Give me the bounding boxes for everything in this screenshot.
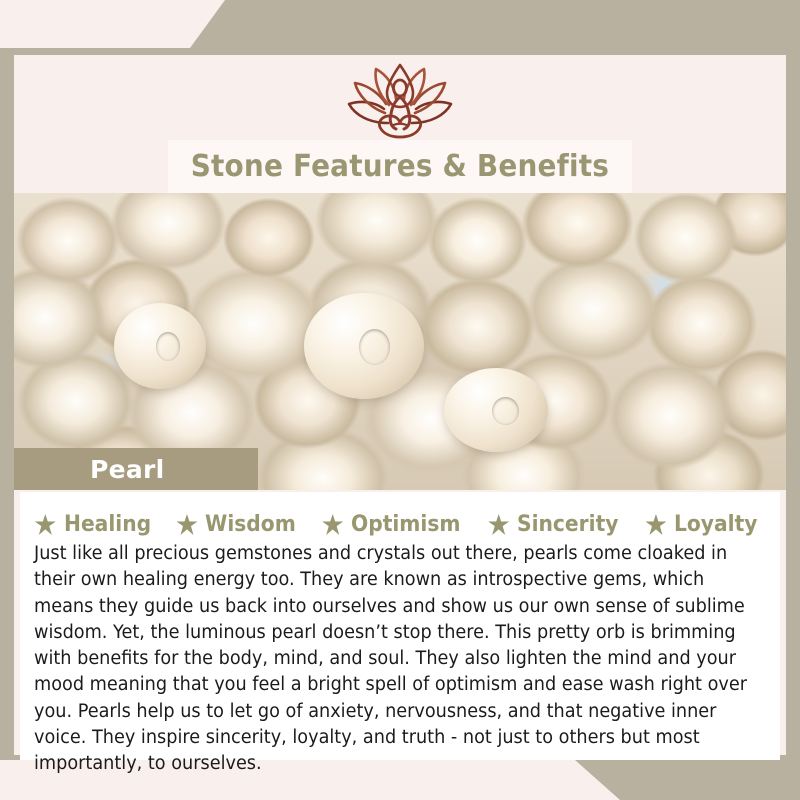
benefit-label: Optimism [351, 512, 460, 537]
star-icon [35, 514, 56, 535]
star-icon [645, 514, 666, 535]
benefit-item-sincerity: Sincerity [488, 512, 627, 537]
title-plaque: Stone Features & Benefits [168, 140, 632, 193]
star-icon [488, 514, 509, 535]
lotus-meditation-icon [325, 57, 475, 141]
star-icon [322, 514, 343, 535]
content-card: Healing Wisdom Optimism Sincerity Loyalt… [20, 492, 780, 760]
pearl-accent [444, 368, 548, 452]
stone-name-band: Pearl [14, 448, 258, 490]
benefit-item-loyalty: Loyalty [645, 512, 765, 537]
description-text: Just like all precious gemstones and cry… [34, 541, 761, 777]
benefit-label: Sincerity [517, 512, 618, 537]
benefit-item-optimism: Optimism [322, 512, 470, 537]
benefit-item-healing: Healing [35, 512, 159, 537]
benefits-list: Healing Wisdom Optimism Sincerity Loyalt… [34, 512, 766, 537]
benefit-item-wisdom: Wisdom [176, 512, 304, 537]
hero-image [14, 193, 786, 490]
star-icon [176, 514, 197, 535]
poster-canvas: BUDDHA STONES Stone Features & Benefits … [0, 0, 800, 800]
pearl-accent [304, 293, 424, 399]
benefit-label: Wisdom [205, 512, 296, 537]
stone-name-label: Pearl [90, 455, 165, 484]
pearl-accent [114, 303, 206, 389]
pearl-photo [14, 193, 786, 490]
benefit-label: Healing [64, 512, 151, 537]
page-title: Stone Features & Benefits [191, 149, 609, 184]
benefit-label: Loyalty [674, 512, 757, 537]
